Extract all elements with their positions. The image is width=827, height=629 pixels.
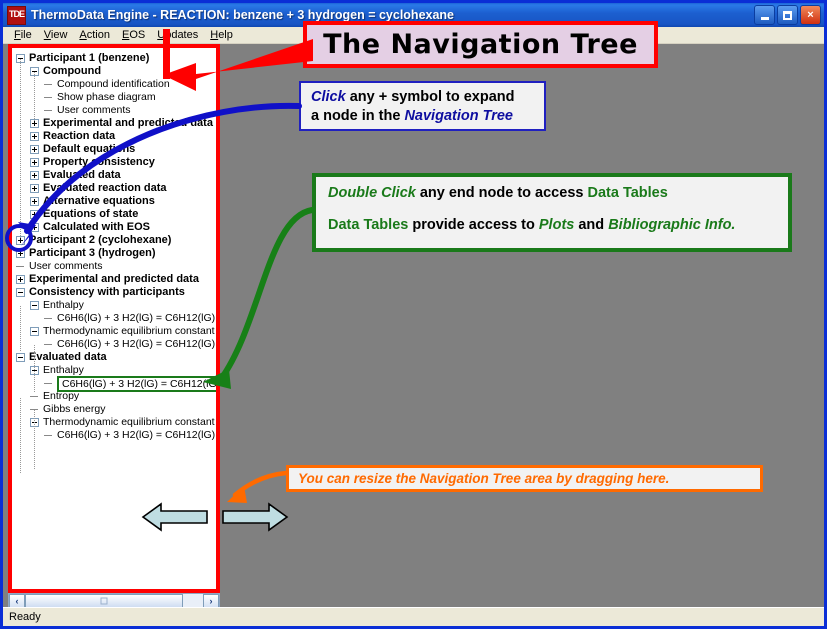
status-text: Ready <box>9 611 41 623</box>
tree-connector-icon <box>16 262 25 271</box>
tree-node-label: Calculated with EOS <box>43 221 150 234</box>
tree-node-label: Experimental and predicted data <box>29 273 199 286</box>
callout-orange-text: You can resize the Navigation Tree area … <box>298 471 669 486</box>
collapse-minus-icon[interactable] <box>30 327 39 336</box>
menu-item-file[interactable]: File <box>9 28 39 42</box>
tree-connector-icon <box>44 93 53 102</box>
callout-green-double-click: Double Click <box>328 185 416 201</box>
tree-node[interactable]: Thermodynamic equilibrium constant <box>12 325 216 338</box>
tree-node[interactable]: C6H6(lG) + 3 H2(lG) = C6H12(lG) <box>12 338 216 351</box>
tree-node[interactable]: Default equations <box>12 143 216 156</box>
tree-node[interactable]: Reaction data <box>12 130 216 143</box>
tree-node[interactable]: Participant 1 (benzene) <box>12 52 216 65</box>
scroll-left-button[interactable]: ‹ <box>9 594 25 608</box>
tree-node-label: Evaluated data <box>43 169 121 182</box>
tree-node-label: Reaction data <box>43 130 115 143</box>
tree-root: Participant 1 (benzene)CompoundCompound … <box>12 48 216 442</box>
tree-node[interactable]: Participant 3 (hydrogen) <box>12 247 216 260</box>
menu-item-updates[interactable]: Updates <box>152 28 205 42</box>
tree-guide-line <box>20 306 21 351</box>
tree-node-label: Evaluated reaction data <box>43 182 167 195</box>
tree-guide-line <box>20 59 21 239</box>
tree-node[interactable]: C6H6(lG) + 3 H2(lG) = C6H12(lG) <box>12 312 216 325</box>
tree-connector-icon <box>44 80 53 89</box>
expand-plus-icon[interactable] <box>30 197 39 206</box>
tree-node[interactable]: Property consistency <box>12 156 216 169</box>
callout-green-endnode: any end node to access <box>416 185 588 201</box>
tree-guide-line <box>20 398 21 473</box>
callout-blue-line-2: a node in the Navigation Tree <box>311 107 536 126</box>
tree-node-label: Default equations <box>43 143 135 156</box>
tree-node[interactable]: Equations of state <box>12 208 216 221</box>
tree-node-label: Enthalpy <box>43 299 84 312</box>
maximize-icon <box>783 11 792 20</box>
collapse-minus-icon[interactable] <box>30 301 39 310</box>
tree-connector-icon <box>44 314 53 323</box>
expand-plus-icon[interactable] <box>30 171 39 180</box>
menu-item-action[interactable]: Action <box>74 28 117 42</box>
callout-green-data-tables-2: Data Tables <box>328 217 408 233</box>
callout-resize-hint: You can resize the Navigation Tree area … <box>286 465 763 492</box>
callout-blue-line-1: Click any + symbol to expand <box>311 88 536 107</box>
tree-connector-icon <box>44 379 53 388</box>
window-title: ThermoData Engine - REACTION: benzene + … <box>31 8 454 22</box>
tree-node[interactable]: Calculated with EOS <box>12 221 216 234</box>
tree-node-label: C6H6(lG) + 3 H2(lG) = C6H12(lG) <box>62 378 216 390</box>
resize-arrow-right-icon <box>223 504 287 530</box>
callout-green-line-2: Data Tables provide access to Plots and … <box>328 217 778 233</box>
expand-plus-icon[interactable] <box>30 184 39 193</box>
tree-node-label: Alternative equations <box>43 195 155 208</box>
tree-node[interactable]: Alternative equations <box>12 195 216 208</box>
resize-arrow-left-icon <box>143 504 207 530</box>
window-controls: × <box>754 5 821 25</box>
expand-plus-icon[interactable] <box>16 275 25 284</box>
tree-node-label: Show phase diagram <box>57 91 156 104</box>
scrollbar-thumb[interactable] <box>25 594 183 608</box>
tree-node[interactable]: Compound identification <box>12 78 216 91</box>
tree-guide-line <box>34 345 35 393</box>
callout-blue-node-in-the: a node in the <box>311 108 404 124</box>
callout-blue-nav-tree: Navigation Tree <box>404 108 513 124</box>
tree-node[interactable]: User comments <box>12 104 216 117</box>
minimize-icon <box>761 17 769 20</box>
plus-symbol-glyph: + <box>379 89 387 105</box>
callout-title-text: The Navigation Tree <box>323 29 638 60</box>
tree-node-label: Thermodynamic equilibrium constant <box>43 416 215 429</box>
expand-plus-icon[interactable] <box>30 158 39 167</box>
tree-node-label: C6H6(lG) + 3 H2(lG) = C6H12(lG) <box>57 429 215 442</box>
callout-green-and: and <box>574 217 608 233</box>
application-window: TDE ThermoData Engine - REACTION: benzen… <box>0 0 827 629</box>
resize-handle-arrows <box>141 499 289 535</box>
tree-node[interactable]: Show phase diagram <box>12 91 216 104</box>
callout-green-provide: provide access to <box>408 217 539 233</box>
callout-green-plots: Plots <box>539 217 574 233</box>
callout-green-data-tables-1: Data Tables <box>587 185 667 201</box>
tree-guide-line <box>34 410 35 470</box>
tree-node[interactable]: C6H6(lG) + 3 H2(lG) = C6H12(lG) <box>12 377 216 390</box>
tree-node-label: Participant 3 (hydrogen) <box>29 247 156 260</box>
expand-plus-icon[interactable] <box>30 145 39 154</box>
tree-node[interactable]: Experimental and predicted data <box>12 117 216 130</box>
expand-plus-icon[interactable] <box>16 249 25 258</box>
callout-blue-any: any <box>346 89 379 105</box>
callout-title-box: The Navigation Tree <box>303 21 658 68</box>
tree-node-label: Participant 1 (benzene) <box>29 52 149 65</box>
app-logo-icon: TDE <box>7 6 26 25</box>
tree-node-label: Participant 2 (cyclohexane) <box>29 234 171 247</box>
tree-node[interactable]: User comments <box>12 260 216 273</box>
callout-click-plus: Click any + symbol to expand a node in t… <box>299 81 546 131</box>
tree-node-label: Equations of state <box>43 208 138 221</box>
tree-node-label: Compound <box>43 65 101 78</box>
tree-node-label: Entropy <box>43 390 79 403</box>
scroll-right-button[interactable]: › <box>203 594 219 608</box>
tree-connector-icon <box>44 340 53 349</box>
tree-node-label: Property consistency <box>43 156 155 169</box>
tree-node[interactable]: Consistency with participants <box>12 286 216 299</box>
tree-connector-icon <box>44 431 53 440</box>
tree-node-label: Experimental and predicted data <box>43 117 213 130</box>
tree-node-label: Evaluated data <box>29 351 107 364</box>
tree-node[interactable]: Enthalpy <box>12 299 216 312</box>
tree-guide-line <box>34 72 35 122</box>
tree-node[interactable]: C6H6(lG) + 3 H2(lG) = C6H12(lG) <box>12 429 216 442</box>
tree-node-label: Compound identification <box>57 78 170 91</box>
tree-node-label: Gibbs energy <box>43 403 105 416</box>
expand-plus-icon[interactable] <box>30 210 39 219</box>
callout-data-tables: Double Click any end node to access Data… <box>312 173 792 252</box>
tree-node[interactable]: Evaluated data <box>12 169 216 182</box>
tree-node-label: C6H6(lG) + 3 H2(lG) = C6H12(lG) <box>57 338 215 351</box>
close-button[interactable]: × <box>800 5 821 25</box>
minimize-button[interactable] <box>754 5 775 25</box>
maximize-button[interactable] <box>777 5 798 25</box>
tree-node-label: Consistency with participants <box>29 286 185 299</box>
callout-green-line-1: Double Click any end node to access Data… <box>328 185 778 201</box>
menu-item-view[interactable]: View <box>39 28 75 42</box>
tree-node-label: User comments <box>57 104 131 117</box>
menu-item-eos[interactable]: EOS <box>117 28 152 42</box>
tree-node[interactable]: Thermodynamic equilibrium constant <box>12 416 216 429</box>
menu-item-help[interactable]: Help <box>205 28 240 42</box>
callout-blue-expand: symbol to expand <box>387 89 514 105</box>
expand-plus-icon[interactable] <box>30 132 39 141</box>
tree-connector-icon <box>30 392 39 401</box>
collapse-minus-icon[interactable] <box>16 288 25 297</box>
status-bar: Ready <box>3 607 824 626</box>
expand-plus-icon[interactable] <box>30 223 39 232</box>
callout-blue-click-word: Click <box>311 89 346 105</box>
scrollbar-track[interactable] <box>25 594 203 608</box>
tree-node[interactable]: Compound <box>12 65 216 78</box>
tree-node[interactable]: Participant 2 (cyclohexane) <box>12 234 216 247</box>
tree-node[interactable]: Experimental and predicted data <box>12 273 216 286</box>
collapse-minus-icon[interactable] <box>16 353 25 362</box>
tree-node-label: User comments <box>29 260 103 273</box>
tree-node-label: Thermodynamic equilibrium constant <box>43 325 215 338</box>
tree-node[interactable]: Evaluated data <box>12 351 216 364</box>
tree-node[interactable]: Gibbs energy <box>12 403 216 416</box>
tree-node[interactable]: Evaluated reaction data <box>12 182 216 195</box>
tree-connector-icon <box>44 106 53 115</box>
tree-node-label: C6H6(lG) + 3 H2(lG) = C6H12(lG) <box>57 312 215 325</box>
tree-node[interactable]: Entropy <box>12 390 216 403</box>
callout-green-biblio: Bibliographic Info. <box>608 217 735 233</box>
